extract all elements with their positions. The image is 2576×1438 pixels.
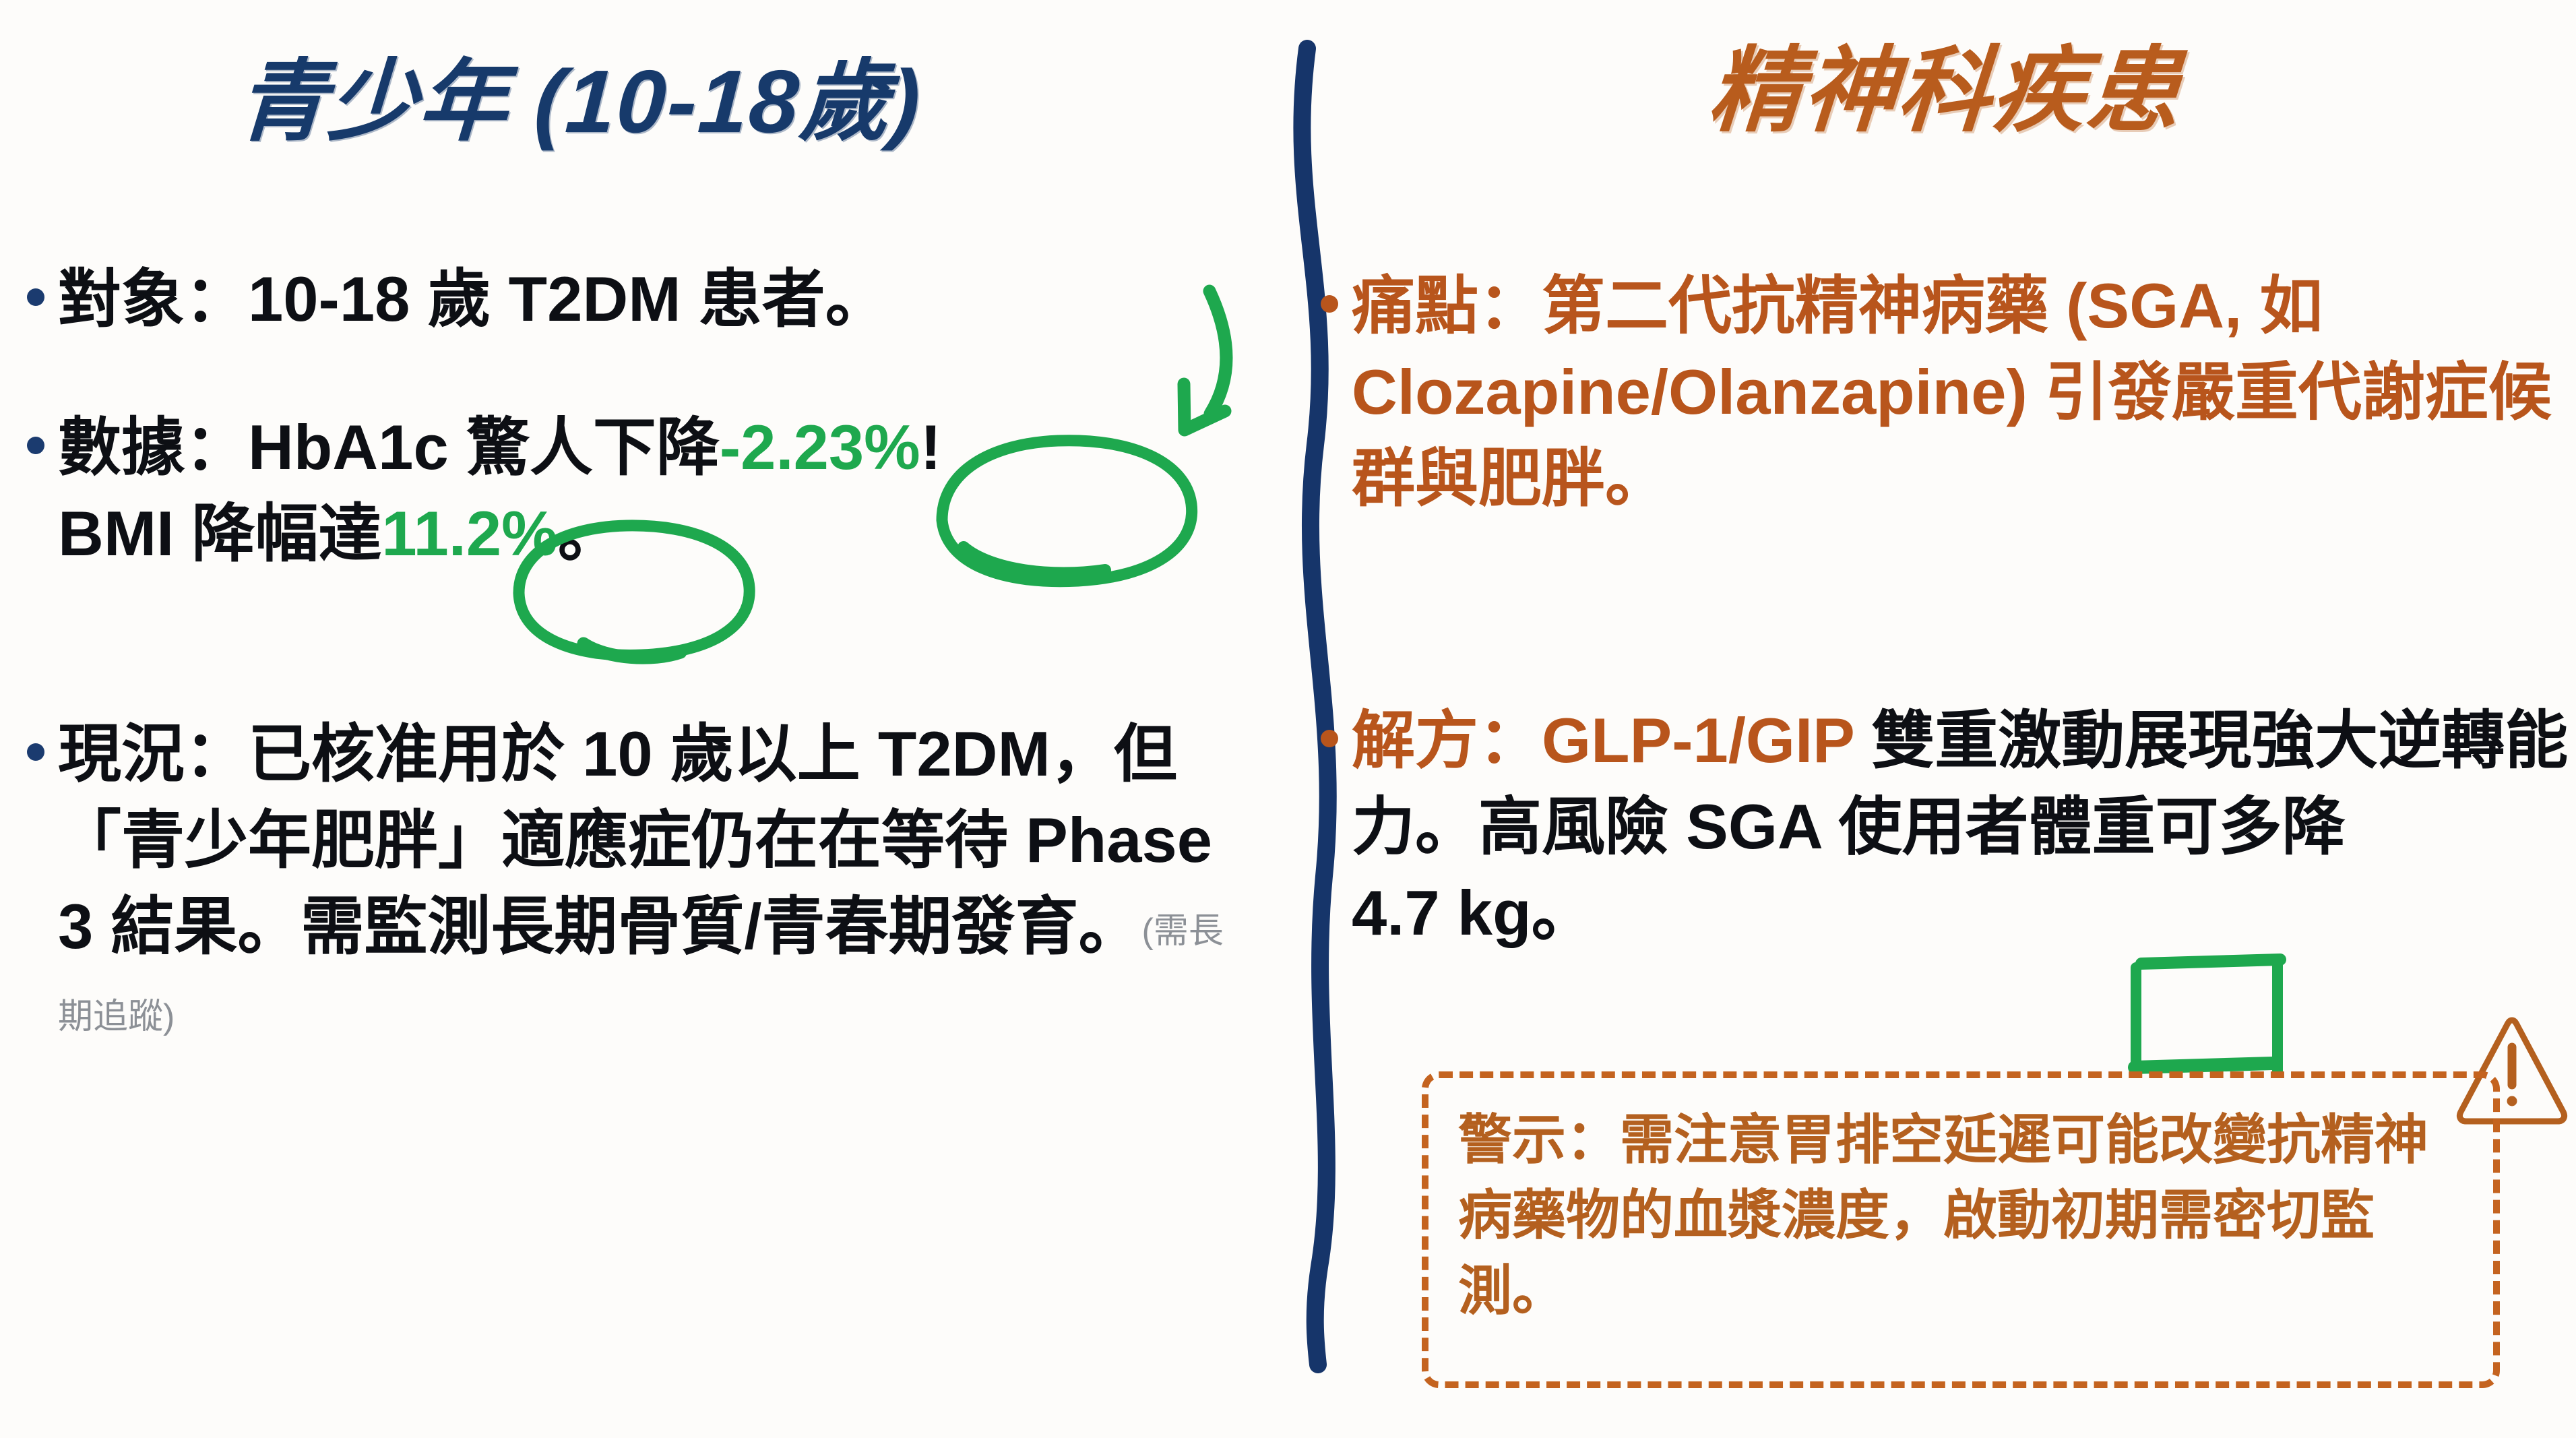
left-bullet-status: 現況：已核准用於 10 歲以上 T2DM，但「青少年肥胖」適應症仍在在等待 Ph… [27, 711, 1240, 1055]
left-bullet-target: 對象：10-18 歲 T2DM 患者。 [27, 256, 1240, 342]
solution-label: 解方：GLP-1/GIP [1352, 705, 1854, 776]
left-column: 青少年 (10-18歲) 對象：10-18 歲 T2DM 患者。 數據：HbA1… [0, 0, 1267, 1438]
data-period: 。 [558, 498, 621, 569]
right-bullet-pain-point: 痛點：第二代抗精神病藥 (SGA, 如 Clozapine/Olanzapine… [1321, 263, 2574, 521]
left-bullet-data-text: 數據：HbA1c 驚人下降-2.23%!BMI 降幅達11.2%。 [58, 404, 941, 577]
warning-callout-text: 警示：需注意胃排空延遲可能改變抗精神病藥物的血漿濃度，啟動初期需密切監測。 [1458, 1102, 2463, 1329]
bullet-dot-icon [27, 288, 44, 306]
status-main: 現況：已核准用於 10 歲以上 T2DM，但「青少年肥胖」適應症仍在在等待 Ph… [58, 718, 1212, 962]
bullet-dot-icon [27, 743, 44, 761]
left-bullet-target-text: 對象：10-18 歲 T2DM 患者。 [58, 256, 889, 342]
left-bullet-status-text: 現況：已核准用於 10 歲以上 T2DM，但「青少年肥胖」適應症仍在在等待 Ph… [58, 711, 1240, 1055]
hba1c-value: -2.23% [720, 412, 920, 482]
data-exclaim: ! [920, 412, 941, 482]
bullet-dot-icon [1321, 730, 1338, 747]
right-bullet-pain-point-text: 痛點：第二代抗精神病藥 (SGA, 如 Clozapine/Olanzapine… [1352, 263, 2574, 521]
bmi-value: 11.2% [381, 498, 557, 569]
right-column-heading: 精神科疾患 [1311, 40, 2576, 143]
right-bullet-solution: 解方：GLP-1/GIP 雙重激動展現強大逆轉能力。高風險 SGA 使用者體重可… [1321, 697, 2574, 956]
left-bullet-data: 數據：HbA1c 驚人下降-2.23%!BMI 降幅達11.2%。 [27, 404, 1240, 577]
weight-loss-value: 4.7 kg [1352, 877, 1532, 948]
warning-callout-box: 警示：需注意胃排空延遲可能改變抗精神病藥物的血漿濃度，啟動初期需密切監測。 [1422, 1071, 2500, 1388]
bullet-dot-icon [27, 437, 44, 454]
right-bullet-solution-text: 解方：GLP-1/GIP 雙重激動展現強大逆轉能力。高風險 SGA 使用者體重可… [1352, 697, 2574, 956]
bullet-dot-icon [1321, 295, 1338, 313]
data-line1-prefix: 數據：HbA1c 驚人下降 [58, 412, 720, 482]
slide-canvas: 青少年 (10-18歲) 對象：10-18 歲 T2DM 患者。 數據：HbA1… [0, 0, 2576, 1438]
data-line2-prefix: BMI 降幅達 [58, 498, 381, 569]
left-column-heading: 青少年 (10-18歲) [0, 53, 1162, 150]
solution-body-post: 。 [1532, 877, 1595, 948]
